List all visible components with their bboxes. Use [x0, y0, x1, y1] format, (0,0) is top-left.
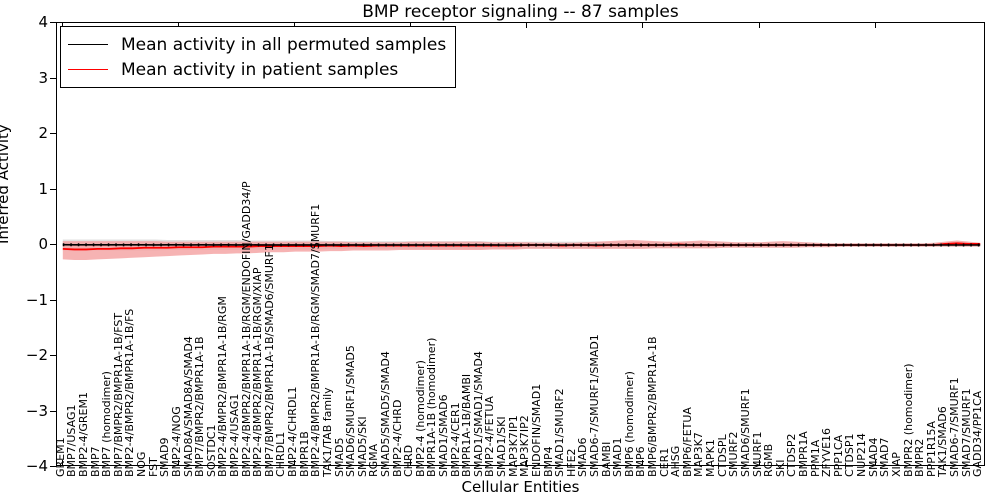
y-tick-label: 3: [0, 71, 48, 86]
x-tick-mark-bottom: [875, 460, 876, 466]
legend-label-permuted: Mean activity in all permuted samples: [121, 35, 446, 55]
y-tick-label: 0: [0, 237, 48, 252]
x-category-label: AHSG: [670, 446, 681, 477]
x-category-label: SMAD6/SMURF1: [740, 388, 751, 477]
x-category-label: RGMA: [368, 444, 379, 477]
y-tick-label: −2: [0, 348, 48, 363]
x-tick-mark-bottom: [759, 460, 760, 466]
x-category-label: BMP2-4/BMPR2/BMPR1A-1B/RGM/SMAD7/SMURF1: [310, 204, 321, 477]
x-category-label: BMP2-4/BMPR2/BMPR1A-1B/RGM/XIAP: [252, 268, 263, 477]
x-category-label: BMPR2: [914, 439, 925, 477]
x-category-label: BMP2-4/BMPR2/BMPR1A-1B/RGM: [217, 296, 228, 477]
x-category-label: TAK1/TAB family: [322, 387, 333, 477]
x-category-label: BMP2-4/CER1: [450, 402, 461, 477]
x-category-label: BMP7 (homodimer): [101, 371, 112, 477]
x-category-label: SMAD6: [577, 438, 588, 477]
x-category-label: BMP2-4/CHRD: [392, 400, 403, 477]
x-tick-mark-bottom: [526, 460, 527, 466]
x-category-label: BMP2-4/GREM1: [78, 392, 89, 477]
legend-swatch-permuted: [68, 44, 108, 45]
x-category-label: BMP7/USAG1: [66, 405, 77, 477]
x-tick-mark-top: [642, 22, 643, 28]
x-category-label: GADD34/PP1CA: [972, 391, 983, 477]
x-category-label: BMP2-4/BMPR2/BMPR1A-1B/RGM/ENDOFIN/GADD3…: [241, 181, 252, 477]
x-category-label: SMAD7/SMURF1: [961, 388, 972, 477]
x-tick-mark-top: [759, 22, 760, 28]
x-category-label: ENDOFIN/SMAD1: [531, 384, 542, 477]
x-category-label: BMPR1A-1B (homodimer): [426, 338, 437, 477]
x-category-label: CTDSP1: [844, 434, 855, 477]
x-category-label: XIAP: [891, 452, 902, 477]
x-category-label: BMP2-4/CHRDL1: [287, 386, 298, 477]
y-tick-label: 1: [0, 182, 48, 197]
x-category-label: BMPR1A: [798, 431, 809, 477]
x-category-label: SMAD5/SMAD5/SMAD4: [380, 351, 391, 477]
chart-figure: BMP receptor signaling -- 87 samples Inf…: [0, 0, 1000, 500]
x-category-label: SMAD6/SMURF1/SMAD5: [345, 345, 356, 477]
x-axis-label: Cellular Entities: [56, 478, 985, 496]
x-category-label: BMP7/BMPR2/BMPR1A-1B: [194, 336, 205, 477]
x-category-label: BMP2-4/BMPR2/BMPR1A-1B/FS: [124, 309, 135, 477]
confidence-band: [63, 240, 980, 260]
y-tick-label: −4: [0, 459, 48, 474]
x-category-label: ZFYVE16: [821, 428, 832, 477]
x-category-label: BMP6: [635, 446, 646, 477]
x-category-label: CHRDL1: [275, 432, 286, 477]
x-category-label: BMPR1B: [299, 431, 310, 477]
legend-swatch-patient: [68, 69, 108, 70]
x-category-label: BMPR2 (homodimer): [903, 363, 914, 477]
x-category-label: BMPR1A-1B/BAMBI: [461, 374, 472, 477]
x-category-label: SMAD9: [159, 438, 170, 477]
x-category-label: NUP214: [856, 433, 867, 477]
x-category-label: TAK1/SMAD6: [937, 406, 948, 477]
x-category-label: BMP2-4/USAG1: [229, 394, 240, 477]
legend-item-patient: Mean activity in patient samples: [68, 57, 446, 82]
x-category-label: SMAD5: [334, 438, 345, 477]
x-tick-mark-bottom: [410, 460, 411, 466]
y-tick-label: −1: [0, 293, 48, 308]
x-tick-mark-top: [526, 22, 527, 28]
x-category-label: SMAD1/SKI: [496, 416, 507, 477]
x-category-label: BMP7: [90, 446, 101, 477]
x-category-label: SMURF1: [752, 432, 763, 478]
x-category-label: BAMBI: [601, 442, 612, 477]
x-category-label: BMP6/BMPR2/BMPR1A-1B: [647, 336, 658, 477]
x-category-label: SMURF2: [728, 432, 739, 478]
x-category-label: SMAD1/SMAD6: [438, 394, 449, 477]
x-category-label: NOG: [136, 452, 147, 477]
x-category-label: MAP3K7: [693, 432, 704, 477]
x-category-label: SMAD7: [879, 438, 890, 477]
x-category-label: SMAD1/SMURF2: [554, 388, 565, 477]
x-category-label: PPM1A: [810, 440, 821, 477]
x-category-label: CTDSP2: [786, 434, 797, 477]
x-category-label: SMAD6-7/SMURF1/SMAD1: [589, 334, 600, 477]
legend: Mean activity in all permuted samples Me…: [60, 26, 456, 88]
x-category-label: SMAD6-7/SMURF1: [949, 377, 960, 477]
legend-label-patient: Mean activity in patient samples: [121, 60, 398, 80]
x-category-label: BMP2-4/NOG: [171, 406, 182, 477]
y-tick-label: 2: [0, 126, 48, 141]
x-tick-mark-bottom: [178, 460, 179, 466]
x-tick-mark-bottom: [62, 460, 63, 466]
x-category-label: RGMB: [763, 444, 774, 477]
x-category-label: BMP2-4/FETUA: [484, 396, 495, 477]
x-category-label: MAP3K7IP2: [519, 415, 530, 477]
x-category-label: CHRD: [403, 445, 414, 477]
x-category-label: MAPK1: [705, 439, 716, 477]
x-tick-mark-bottom: [642, 460, 643, 466]
x-tick-mark-bottom: [294, 460, 295, 466]
page-title: BMP receptor signaling -- 87 samples: [56, 2, 985, 22]
x-category-label: SMAD1: [612, 438, 623, 477]
x-category-label: SMAD8A/SMAD8A/SMAD4: [183, 336, 194, 477]
legend-item-permuted: Mean activity in all permuted samples: [68, 32, 446, 57]
y-tick-label: −3: [0, 404, 48, 419]
x-category-label: BMP4: [543, 446, 554, 477]
x-tick-mark-top: [875, 22, 876, 28]
x-category-label: CER1: [659, 448, 670, 477]
y-tick-label: 4: [0, 15, 48, 30]
